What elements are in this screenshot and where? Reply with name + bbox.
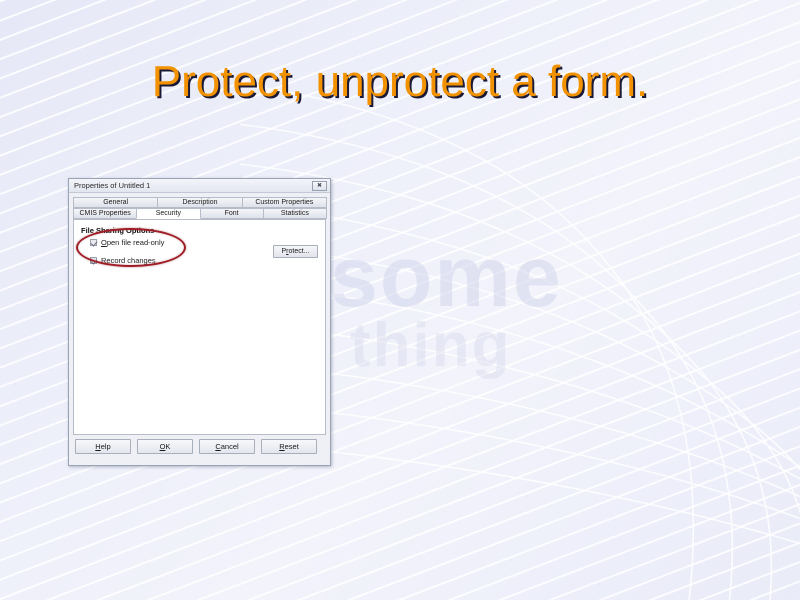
label-open-file-read-only: Open file read-only: [101, 238, 164, 247]
tab-row-1: General Description Custom Properties: [73, 197, 326, 208]
tab-statistics[interactable]: Statistics: [263, 208, 327, 219]
cancel-button[interactable]: Cancel: [199, 439, 255, 454]
tab-cmis-properties[interactable]: CMIS Properties: [73, 208, 137, 219]
dialog-button-bar: Help OK Cancel Reset: [69, 427, 330, 465]
watermark-line-1: some: [330, 229, 563, 325]
tab-security[interactable]: Security: [136, 208, 200, 219]
checkbox-open-file-read-only[interactable]: [90, 239, 97, 246]
tab-custom-properties[interactable]: Custom Properties: [242, 197, 327, 208]
close-icon[interactable]: ✖: [312, 181, 327, 191]
tab-general[interactable]: General: [73, 197, 158, 208]
ok-button[interactable]: OK: [137, 439, 193, 454]
tab-description[interactable]: Description: [157, 197, 242, 208]
background-watermark: some thing: [330, 238, 690, 368]
protect-button[interactable]: Protect...: [273, 245, 318, 258]
tab-row-2: CMIS Properties Security Font Statistics: [73, 208, 326, 219]
reset-button[interactable]: Reset: [261, 439, 317, 454]
dialog-titlebar: Properties of Untitled 1 ✖: [69, 179, 330, 193]
checkbox-record-changes[interactable]: [90, 257, 97, 264]
file-sharing-options-label: File Sharing Options: [81, 226, 318, 235]
properties-dialog: Properties of Untitled 1 ✖ General Descr…: [68, 178, 331, 466]
label-record-changes: Record changes: [101, 256, 156, 265]
slide-canvas: some thing Protect, unprotect a form. Pr…: [0, 0, 800, 600]
dialog-title-text: Properties of Untitled 1: [74, 181, 312, 190]
tab-strip: General Description Custom Properties CM…: [69, 193, 330, 219]
help-button[interactable]: Help: [75, 439, 131, 454]
security-tab-panel: File Sharing Options Open file read-only…: [73, 219, 326, 435]
watermark-line-2: thing: [330, 317, 690, 374]
tab-font[interactable]: Font: [200, 208, 264, 219]
page-title: Protect, unprotect a form.: [0, 57, 800, 107]
